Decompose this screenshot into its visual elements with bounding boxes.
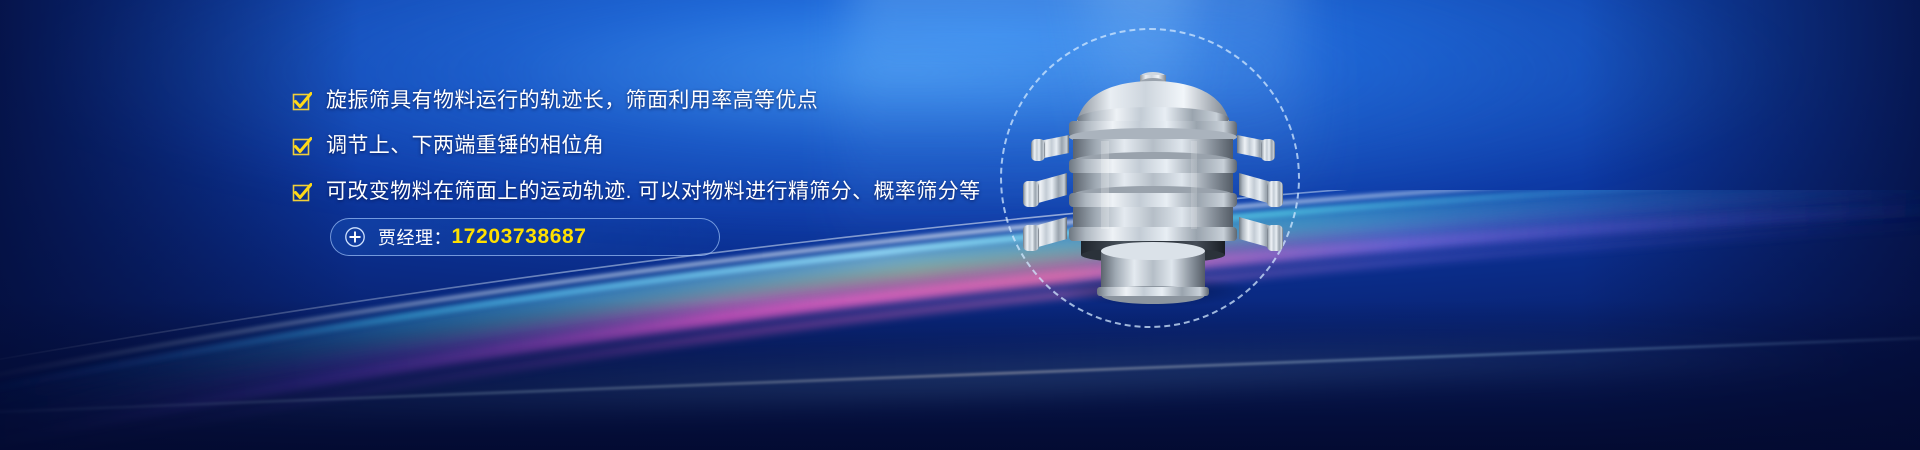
contact-name: 贾经理 bbox=[378, 224, 434, 250]
feature-item: 调节上、下两端重锤的相位角 bbox=[292, 133, 1052, 159]
feature-text: 调节上、下两端重锤的相位角 bbox=[326, 133, 604, 159]
contact-separator: ： bbox=[434, 224, 452, 250]
feature-item: 旋振筛具有物料运行的轨迹长，筛面利用率高等优点 bbox=[292, 88, 1052, 114]
check-box-icon bbox=[292, 137, 312, 157]
feature-list: 旋振筛具有物料运行的轨迹长，筛面利用率高等优点 调节上、下两端重锤的相位角 可改… bbox=[292, 88, 1052, 224]
promo-banner: 旋振筛具有物料运行的轨迹长，筛面利用率高等优点 调节上、下两端重锤的相位角 可改… bbox=[0, 0, 1920, 450]
feature-item: 可改变物料在筛面上的运动轨迹. 可以对物料进行精筛分、概率筛分等 bbox=[292, 179, 1052, 205]
check-box-icon bbox=[292, 92, 312, 112]
contact-button[interactable]: 贾经理 ： 17203738687 bbox=[330, 218, 720, 256]
background-bottom-vignette bbox=[0, 300, 1920, 450]
plus-circle-icon bbox=[344, 226, 366, 248]
check-box-icon bbox=[292, 183, 312, 203]
feature-text: 旋振筛具有物料运行的轨迹长，筛面利用率高等优点 bbox=[326, 88, 818, 114]
feature-text: 可改变物料在筛面上的运动轨迹. 可以对物料进行精筛分、概率筛分等 bbox=[326, 179, 980, 205]
contact-phone: 17203738687 bbox=[452, 225, 587, 249]
